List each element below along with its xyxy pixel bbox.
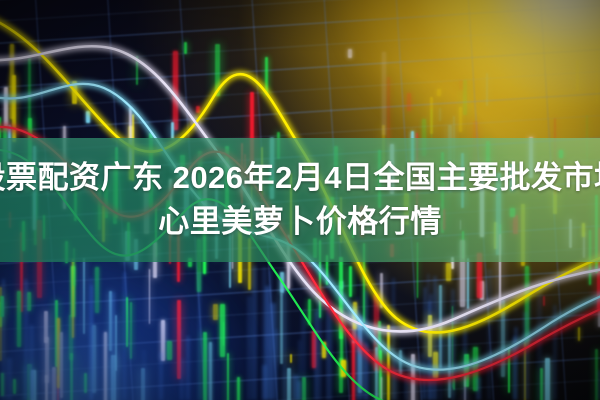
promo-banner-image: 股票配资广东 2026年2月4日全国主要批发市场 心里美萝卜价格行情 — [0, 0, 600, 400]
headline-block: 股票配资广东 2026年2月4日全国主要批发市场 心里美萝卜价格行情 — [0, 138, 600, 262]
headline-line-1: 股票配资广东 2026年2月4日全国主要批发市场 — [0, 159, 600, 197]
headline-line-2: 心里美萝卜价格行情 — [158, 203, 442, 241]
